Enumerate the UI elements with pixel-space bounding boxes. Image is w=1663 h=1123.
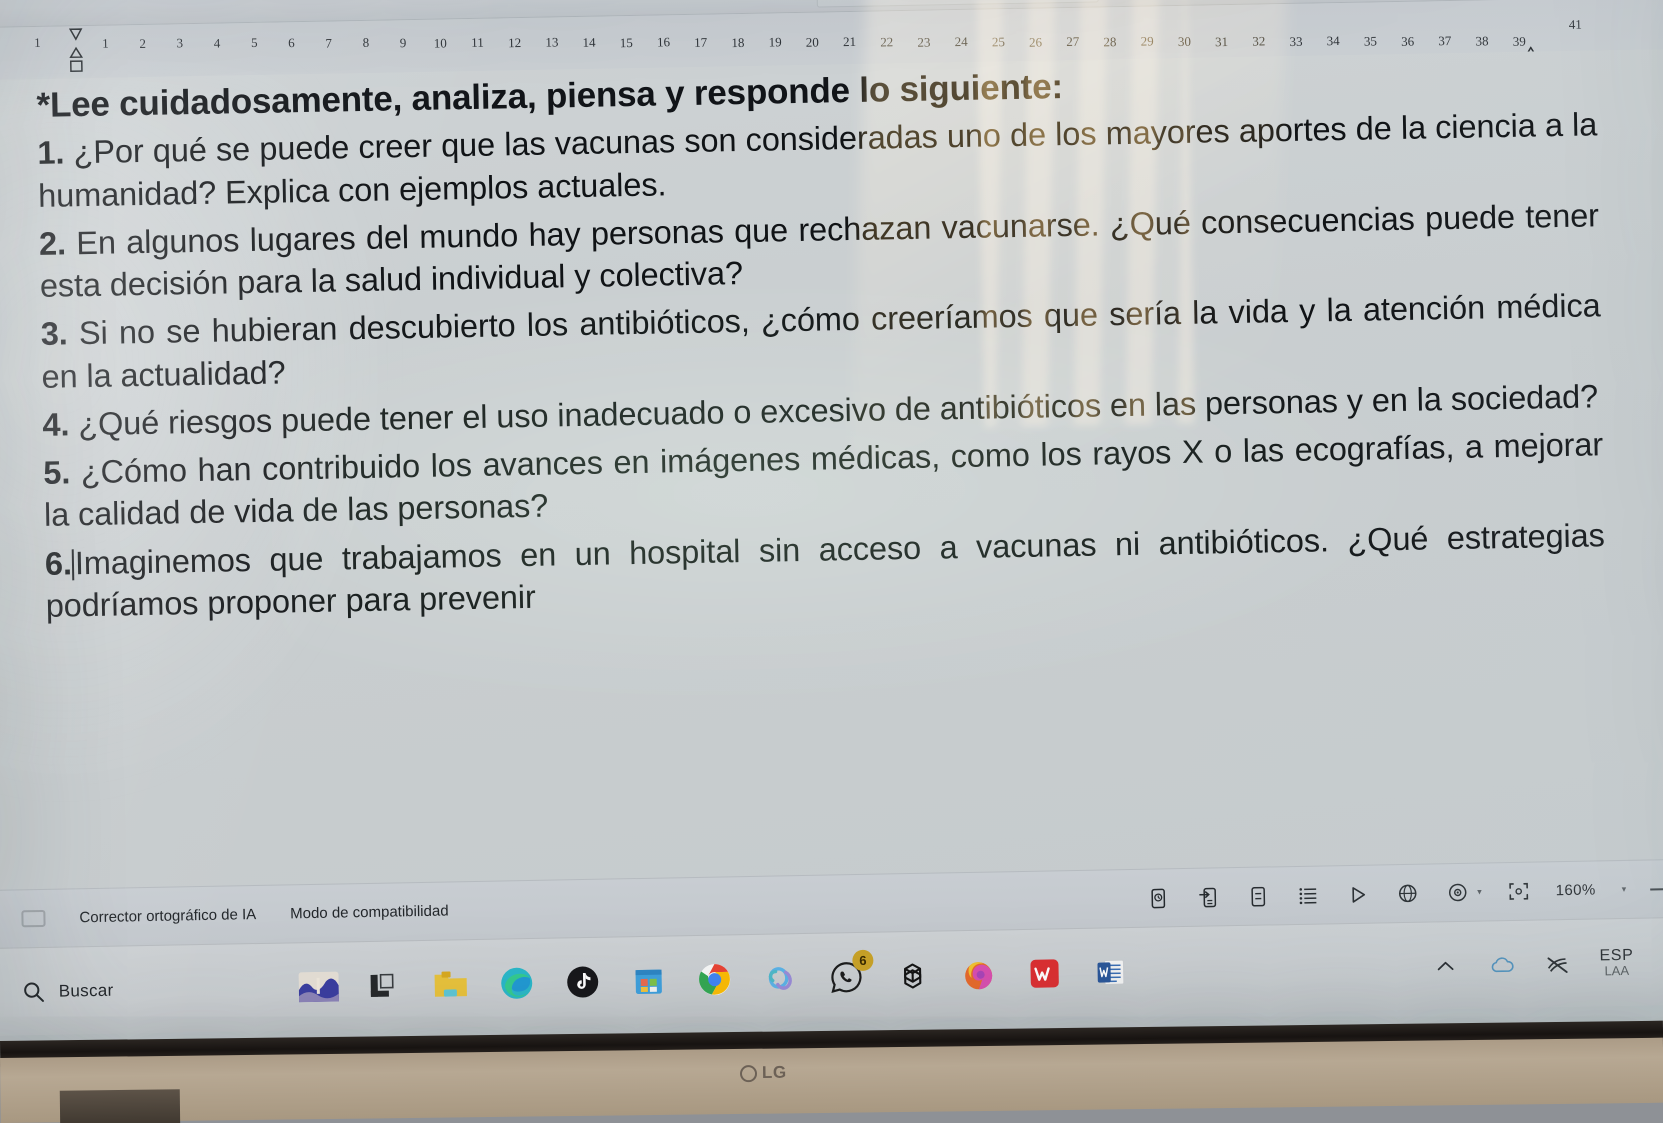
ruler-number: 37 [1438,33,1451,49]
ruler-number: 4 [214,35,221,51]
ruler-number: 33 [1289,34,1302,50]
ruler-number: 3 [176,35,183,51]
read-mode-icon[interactable] [1245,884,1271,908]
ruler-number: 9 [400,35,407,51]
question-number: 4. [42,406,70,442]
ruler-number: 2 [139,36,146,52]
ruler-number: 35 [1364,33,1377,49]
first-line-indent-marker[interactable] [67,28,84,41]
ruler-number: 27 [1066,34,1079,50]
ruler-number: 26 [1029,34,1042,50]
ruler-number: 13 [545,35,558,51]
ruler-number: 21 [843,34,856,50]
document-page[interactable]: *Lee cuidadosamente, analiza, piensa y r… [0,49,1663,890]
ruler-number: 29 [1141,34,1154,50]
ruler-number: 30 [1178,34,1191,50]
lg-mark-icon [740,1065,757,1082]
question-text: Imaginemos que trabajamos en un hospital… [45,517,1605,624]
mic-muted-icon[interactable] [1543,950,1571,977]
language-indicator[interactable]: ESP LAA [1599,948,1633,978]
question-number: 6. [45,545,73,581]
file-explorer-icon[interactable] [364,965,405,1006]
zoom-chevron-down-icon[interactable]: ▾ [1622,884,1627,895]
question-number: 5. [43,454,71,490]
lg-brand-logo: LG [740,1063,787,1084]
onedrive-icon[interactable] [1487,951,1515,978]
monitor-screen: ▾ ▾ ▾ (Web) Pie de págin [0,0,1663,1058]
taskbar-search-label: Buscar [59,980,114,1001]
copilot-icon[interactable] [760,958,801,999]
photos-thumbnail-icon[interactable] [298,966,339,1007]
folder-icon[interactable] [430,964,471,1005]
whatsapp-unread-badge: 6 [852,949,873,970]
ruler-number: 34 [1327,33,1340,49]
styles-gallery[interactable]: (Web) [816,0,1099,8]
wps-office-icon[interactable] [1024,953,1065,994]
accessibility-icon[interactable] [1395,881,1421,905]
taskbar-search[interactable]: Buscar [0,976,295,1003]
ruler-number: 8 [362,35,369,51]
chatgpt-icon[interactable] [892,955,933,996]
ruler-number: 18 [731,34,744,50]
ruler-number: 15 [620,35,633,51]
zoom-slider[interactable] [1650,887,1663,890]
ruler-number: 23 [917,34,930,50]
reading-time-icon[interactable] [1145,886,1171,910]
taskbar-app-list: 6 [298,952,1131,1007]
fit-page-icon[interactable] [1505,879,1531,903]
ruler-number: 16 [657,35,670,51]
system-tray: ESP LAA [1431,946,1663,980]
ruler-number: 38 [1475,33,1488,49]
question-number: 1. [37,135,65,171]
document-body[interactable]: *Lee cuidadosamente, analiza, piensa y r… [36,56,1606,627]
ruler-number: 20 [806,34,819,50]
show-hidden-icons-icon[interactable] [1432,952,1460,979]
ruler-number: 41 [1569,17,1582,33]
ruler-number: 6 [288,35,295,51]
microsoft-edge-icon[interactable] [496,962,537,1003]
microsoft-word-icon[interactable] [1090,952,1131,993]
zoom-level-label[interactable]: 160% [1556,881,1596,899]
print-layout-icon[interactable] [1295,883,1321,907]
monitor-photo: ▾ ▾ ▾ (Web) Pie de págin [0,0,1663,1123]
page-book-icon [21,910,45,927]
ruler-number: 1 [102,36,109,52]
google-chrome-icon[interactable] [694,959,735,1000]
display-settings-icon[interactable] [1445,880,1471,904]
ruler-number: 36 [1401,33,1414,49]
ruler-number: 25 [992,34,1005,50]
hanging-indent-marker[interactable] [67,46,85,74]
ruler-number: 14 [582,35,595,51]
ruler-number: 22 [880,34,893,50]
question-number: 3. [40,316,68,352]
microsoft-store-icon[interactable] [628,960,669,1001]
whatsapp-icon[interactable]: 6 [826,956,867,997]
ruler-number: 7 [325,35,332,51]
spell-check-status[interactable]: Corrector ortográfico de IA [79,906,256,926]
focus-mode-icon[interactable] [1195,885,1221,909]
ruler-number: 12 [508,35,521,51]
search-icon [23,980,45,1002]
display-settings-chevron-down-icon[interactable]: ▾ [1477,887,1482,898]
monitor-stand [60,1089,180,1123]
web-layout-icon[interactable] [1345,882,1371,906]
firefox-icon[interactable] [958,954,999,995]
lg-brand-label: LG [762,1063,787,1083]
tiktok-icon[interactable] [562,961,603,1002]
ruler-number: 24 [955,34,968,50]
ruler-number: 17 [694,35,707,51]
ruler-number: 5 [251,35,258,51]
ruler-number: 1 [34,35,41,51]
ruler-number: 19 [768,34,781,50]
compatibility-mode-status[interactable]: Modo de compatibilidad [290,903,449,923]
ruler-number: 10 [434,35,447,51]
language-secondary: LAA [1600,964,1634,978]
ruler-number: 11 [471,35,484,51]
ruler-number: 31 [1215,34,1228,50]
ruler-number: 32 [1252,34,1265,50]
question-number: 2. [39,225,67,261]
ruler-number: 28 [1103,34,1116,50]
